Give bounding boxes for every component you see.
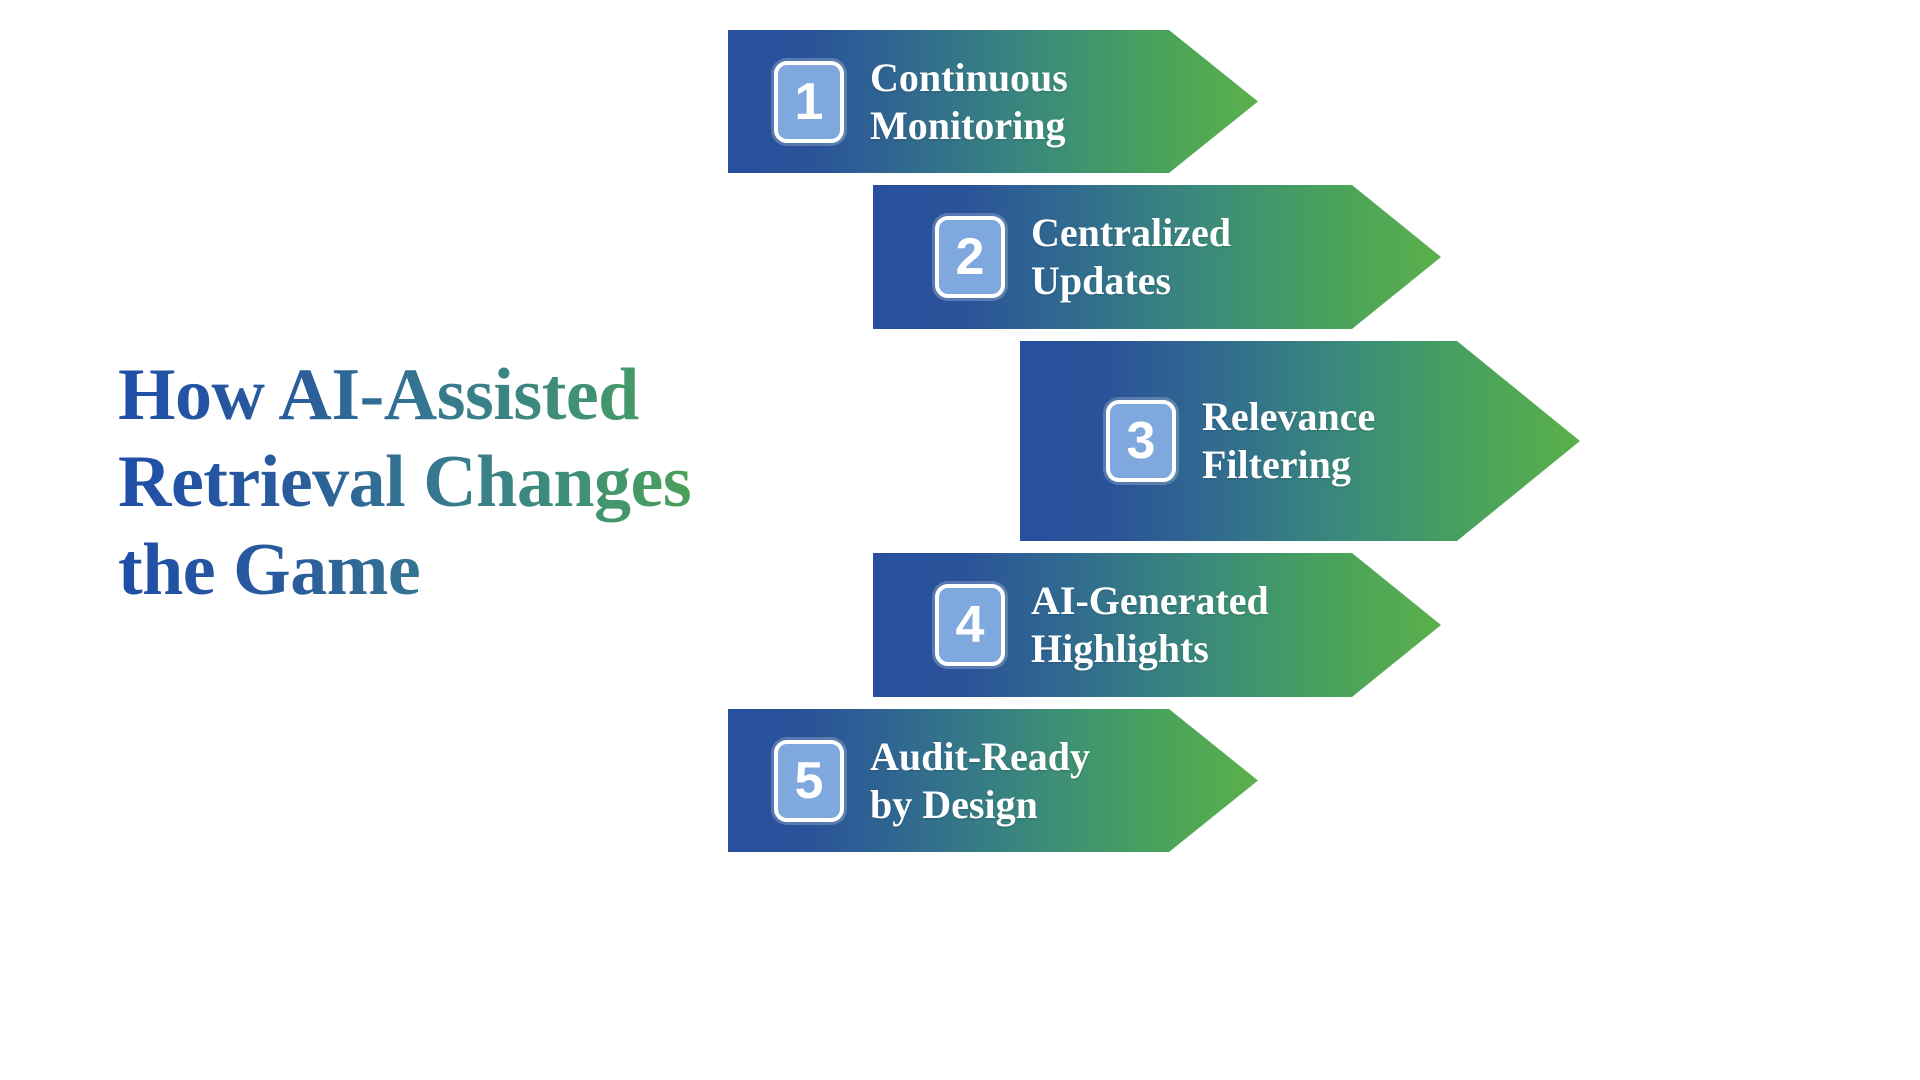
step-label-5: Audit-Ready by Design [870,733,1090,828]
step-number-5: 5 [795,755,824,807]
slide-canvas: How AI-Assisted Retrieval Changes the Ga… [0,0,1920,1080]
arrow-band-4[interactable]: 4 AI-Generated Highlights [873,553,1441,697]
step-number-badge-2: 2 [935,216,1005,298]
step-number-2: 2 [956,231,985,283]
arrow-band-5[interactable]: 5 Audit-Ready by Design [728,709,1258,852]
step-number-badge-4: 4 [935,584,1005,666]
arrow-band-3[interactable]: 3 Relevance Filtering [1020,341,1580,541]
step-number-badge-1: 1 [774,61,844,143]
step-label-4: AI-Generated Highlights [1031,577,1269,672]
converging-arrow-diagram: 1 Continuous Monitoring 2 Centralized Up… [0,0,1920,1080]
step-label-3: Relevance Filtering [1202,393,1375,488]
step-number-1: 1 [795,76,824,128]
step-number-3: 3 [1127,415,1156,467]
step-label-2: Centralized Updates [1031,209,1231,304]
step-number-badge-3: 3 [1106,400,1176,482]
arrow-band-2[interactable]: 2 Centralized Updates [873,185,1441,329]
step-number-badge-5: 5 [774,740,844,822]
step-number-4: 4 [956,599,985,651]
arrow-band-1[interactable]: 1 Continuous Monitoring [728,30,1258,173]
step-label-1: Continuous Monitoring [870,54,1068,149]
